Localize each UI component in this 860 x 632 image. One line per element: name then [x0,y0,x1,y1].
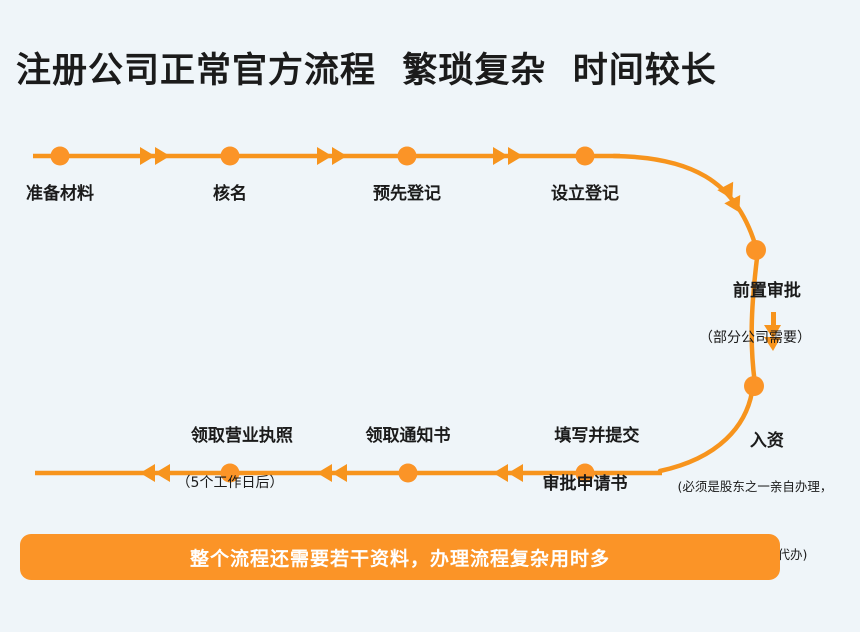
step-label-pre-registration: 预先登记 [347,182,467,206]
step-label-capital-injection-note-line1: (必须是股东之一亲自办理， [655,477,855,497]
arrow-right-1 [140,147,170,165]
node-dot-prepare-materials [51,147,70,166]
arrow-left-2 [317,464,347,482]
step-label-receive-license-note: （5个工作日后） [155,472,305,494]
step-label-submit-application-line1: 填写并提交 [554,426,639,446]
node-dot-establishment-registration [576,147,595,166]
arrow-right-2 [317,147,347,165]
step-label-submit-application-line2: 审批申请书 [505,472,665,496]
step-label-name-verification: 核名 [170,182,290,206]
step-label-capital-injection: 入资 (必须是股东之一亲自办理， 不得委托他人代办) [655,405,855,613]
step-label-prepare-materials: 准备材料 [0,182,120,206]
step-label-preapproval-title: 前置审批 [733,281,801,301]
step-label-establishment-registration: 设立登记 [525,182,645,206]
arrow-right-3 [493,147,523,165]
step-label-submit-application: 填写并提交 审批申请书 [505,400,665,544]
summary-banner-text: 整个流程还需要若干资料，办理流程复杂用时多 [190,544,610,571]
step-label-preapproval-note: （部分公司需要） [675,327,835,349]
summary-banner: 整个流程还需要若干资料，办理流程复杂用时多 [20,534,780,580]
step-label-receive-license: 领取营业执照 （5个工作日后） [155,400,305,542]
step-label-preapproval: 前置审批 （部分公司需要） [675,255,835,397]
step-label-capital-injection-title: 入资 [750,431,784,451]
node-dot-name-verification [221,147,240,166]
step-label-receive-license-title: 领取营业执照 [191,426,293,446]
infographic-page: 注册公司正常官方流程 繁琐复杂 时间较长 [0,0,860,632]
node-dot-receive-notice [399,464,418,483]
step-label-receive-notice: 领取通知书 [333,424,483,448]
node-dot-pre-registration [398,147,417,166]
